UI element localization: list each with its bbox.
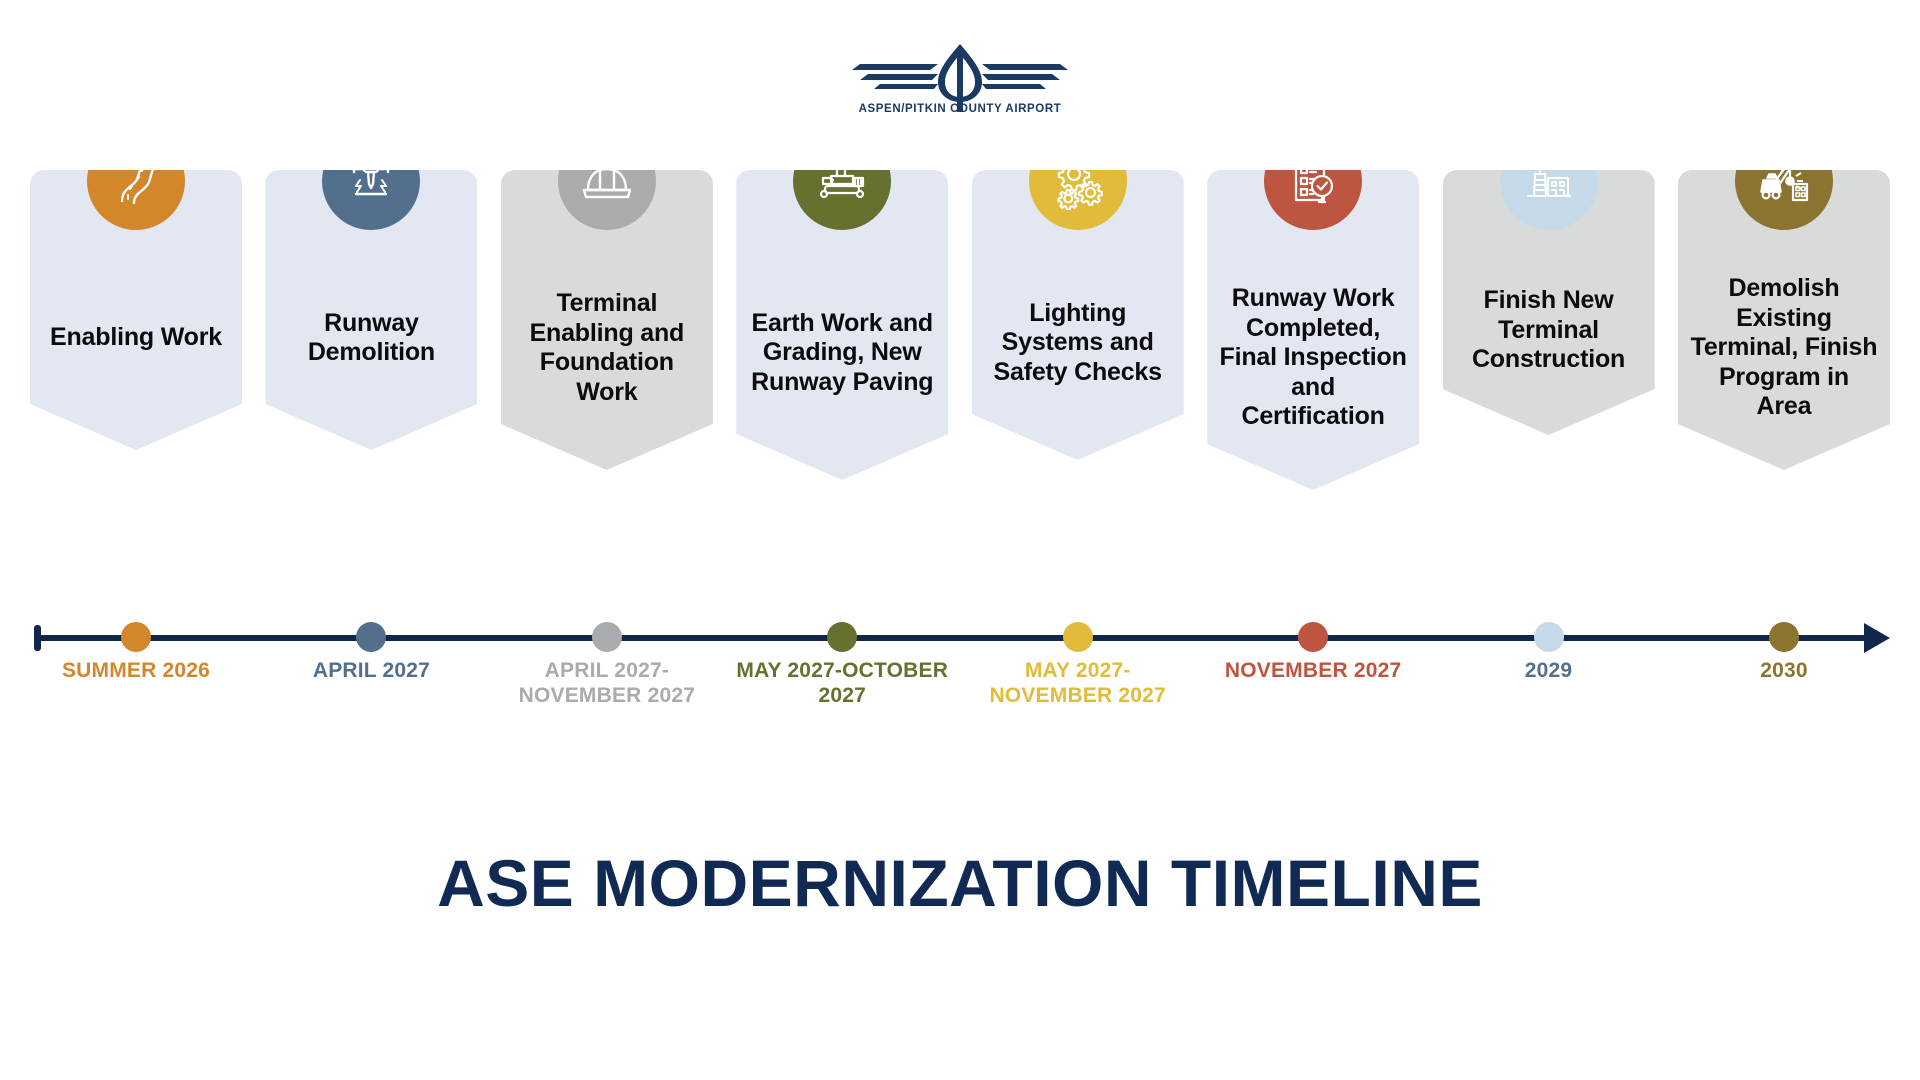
step-card-1[interactable]: Enabling Work [30,170,242,450]
timeline-step-3[interactable]: Terminal Enabling and Foundation Work [501,170,713,470]
axis-marker-slot-1 [30,622,242,652]
axis-marker-slot-6 [1207,622,1419,652]
axis-dot-3[interactable] [592,622,622,652]
step-date-2: APRIL 2027 [265,658,477,683]
step-card-8[interactable]: Demolish Existing Terminal, Finish Progr… [1678,170,1890,470]
step-card-2[interactable]: Runway Demolition [265,170,477,450]
step-date-7: 2029 [1443,658,1655,683]
timeline-step-2[interactable]: Runway Demolition [265,170,477,450]
step-card-5[interactable]: Lighting Systems and Safety Checks [972,170,1184,460]
airport-logo-icon: ASPEN/PITKIN COUNTY AIRPORT [850,42,1070,116]
axis-dot-4[interactable] [827,622,857,652]
step-label-7: Finish New Terminal Construction [1455,286,1643,375]
step-label-8: Demolish Existing Terminal, Finish Progr… [1690,274,1878,422]
axis-dot-5[interactable] [1063,622,1093,652]
step-card-3[interactable]: Terminal Enabling and Foundation Work [501,170,713,470]
step-label-4: Earth Work and Grading, New Runway Pavin… [748,309,936,398]
axis-marker-slot-5 [972,622,1184,652]
axis-markers [30,622,1890,652]
step-card-7[interactable]: Finish New Terminal Construction [1443,170,1655,435]
paver-machine-icon [793,132,891,230]
jackhammer-icon [322,132,420,230]
step-label-1: Enabling Work [50,323,222,353]
step-label-3: Terminal Enabling and Foundation Work [513,289,701,407]
timeline-step-5[interactable]: Lighting Systems and Safety Checks [972,170,1184,460]
timeline-step-4[interactable]: Earth Work and Grading, New Runway Pavin… [736,170,948,480]
checklist-inspection-icon [1264,132,1362,230]
page-title: ASE MODERNIZATION TIMELINE [0,845,1920,921]
step-date-1: SUMMER 2026 [30,658,242,683]
step-date-6: NOVEMBER 2027 [1207,658,1419,683]
axis-dot-2[interactable] [356,622,386,652]
step-label-5: Lighting Systems and Safety Checks [984,299,1172,388]
step-label-6: Runway Work Completed, Final Inspection … [1219,284,1407,432]
step-card-4[interactable]: Earth Work and Grading, New Runway Pavin… [736,170,948,480]
timeline-axis [30,622,1890,652]
step-card-6[interactable]: Runway Work Completed, Final Inspection … [1207,170,1419,490]
timeline-infographic: ASPEN/PITKIN COUNTY AIRPORT Enabling Wor… [0,0,1920,1080]
timeline-dates: SUMMER 2026 APRIL 2027 APRIL 2027-NOVEMB… [30,658,1890,730]
timeline-stage: Enabling Work [30,170,1890,730]
axis-marker-slot-7 [1443,622,1655,652]
axis-dot-6[interactable] [1298,622,1328,652]
axis-marker-slot-3 [501,622,713,652]
gears-icon [1029,132,1127,230]
axis-dot-8[interactable] [1769,622,1799,652]
logo-wordmark: ASPEN/PITKIN COUNTY AIRPORT [859,103,1062,115]
step-label-2: Runway Demolition [277,309,465,368]
hard-hat-icon [558,132,656,230]
timeline-cards: Enabling Work [30,170,1890,610]
axis-marker-slot-8 [1678,622,1890,652]
axis-dot-1[interactable] [121,622,151,652]
step-date-3: APRIL 2027-NOVEMBER 2027 [501,658,713,708]
step-date-5: MAY 2027-NOVEMBER 2027 [972,658,1184,708]
timeline-step-8[interactable]: Demolish Existing Terminal, Finish Progr… [1678,170,1890,470]
logo: ASPEN/PITKIN COUNTY AIRPORT [0,42,1920,116]
step-date-8: 2030 [1678,658,1890,683]
timeline-step-6[interactable]: Runway Work Completed, Final Inspection … [1207,170,1419,490]
axis-marker-slot-2 [265,622,477,652]
timeline-step-7[interactable]: Finish New Terminal Construction [1443,170,1655,435]
wrecking-ball-icon [1735,132,1833,230]
step-date-4: MAY 2027-OCTOBER 2027 [736,658,948,708]
axis-dot-7[interactable] [1534,622,1564,652]
timeline-step-1[interactable]: Enabling Work [30,170,242,450]
axis-marker-slot-4 [736,622,948,652]
airport-terminal-icon [1500,132,1598,230]
winding-road-icon [87,132,185,230]
